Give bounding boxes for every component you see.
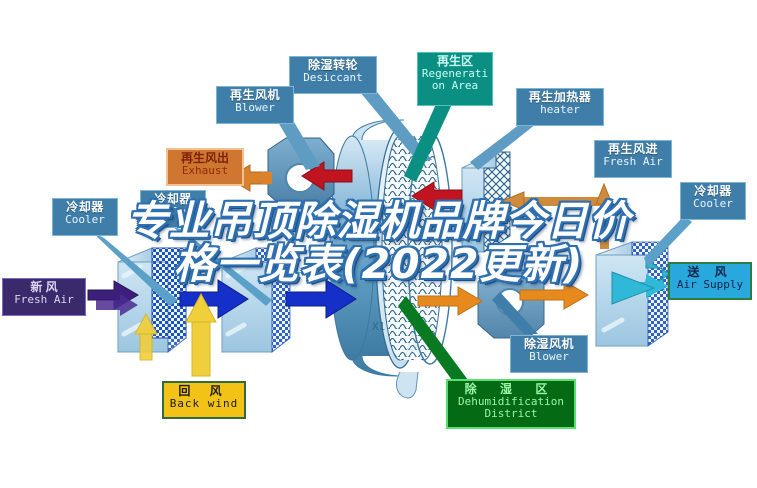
label-regen-heater: 再生加热器heater [516, 88, 604, 126]
label-en-cooler-right: Cooler [684, 198, 742, 210]
label-regen-blower: 再生风机Blower [216, 86, 294, 124]
label-en-fresh-air-inlet: Fresh Air [6, 294, 82, 306]
label-en-air-supply: Air Supply [673, 279, 747, 291]
label-fresh-air-inlet: 新 风Fresh Air [2, 278, 86, 316]
label-cn-dehum-blower: 除湿风机 [514, 338, 584, 351]
label-cn-regen-area: 再生区 [421, 55, 489, 68]
label-dehum-blower: 除湿风机Blower [510, 335, 588, 373]
arrow-regen-fresh-in [502, 184, 612, 249]
label-exhaust: 再生风出Exhaust [166, 148, 244, 186]
label-cn-cooler-left: 冷却器 [56, 201, 114, 214]
label-cooler-left: 冷却器Cooler [52, 198, 118, 236]
label-cn-regen-fresh-air: 再生风进 [598, 143, 668, 156]
label-back-wind: 回 风Back wind [162, 381, 246, 419]
label-en-desiccant-wheel: Desiccant [293, 72, 373, 84]
label-en-back-wind: Back wind [167, 398, 241, 410]
machine-illustration: X1 [0, 0, 757, 488]
label-cn-cooler-mid: 冷却器 [144, 193, 202, 206]
label-cn-air-supply: 送 风 [673, 266, 747, 279]
label-en-exhaust: Exhaust [171, 165, 239, 177]
label-regen-fresh-air: 再生风进Fresh Air [594, 140, 672, 178]
label-desiccant-wheel: 除湿转轮Desiccant [289, 56, 377, 94]
label-en-regen-heater: heater [520, 104, 600, 116]
label-en-regen-area: Regenerati on Area [421, 68, 489, 92]
label-en-cooler-left: Cooler [56, 214, 114, 226]
label-cn-cooler-right: 冷却器 [684, 185, 742, 198]
label-dehum-district: 除 湿 区Dehumidification District [446, 379, 576, 429]
label-cn-exhaust: 再生风出 [171, 152, 239, 165]
label-cn-regen-heater: 再生加热器 [520, 91, 600, 104]
label-en-dehum-district: Dehumidification District [451, 396, 571, 420]
label-cn-fresh-air-inlet: 新 风 [6, 281, 82, 294]
label-cn-regen-blower: 再生风机 [220, 89, 290, 102]
label-en-cooler-mid: Cooler [144, 206, 202, 218]
label-en-dehum-blower: Blower [514, 351, 584, 363]
label-cooler-right: 冷却器Cooler [680, 182, 746, 220]
label-cn-back-wind: 回 风 [167, 385, 241, 398]
label-en-regen-fresh-air: Fresh Air [598, 156, 668, 168]
label-en-regen-blower: Blower [220, 102, 290, 114]
label-cooler-mid: 冷却器Cooler [140, 190, 206, 228]
regen-heater-block [462, 152, 510, 252]
wheel-face-text: X1 [372, 320, 385, 333]
label-air-supply: 送 风Air Supply [668, 262, 752, 300]
label-cn-desiccant-wheel: 除湿转轮 [293, 59, 373, 72]
diagram-canvas: X1 [0, 0, 757, 488]
label-cn-dehum-district: 除 湿 区 [451, 383, 571, 396]
desiccant-rotor: X1 [330, 120, 452, 398]
label-regen-area: 再生区Regenerati on Area [417, 52, 493, 106]
dehum-blower-fan [478, 270, 544, 338]
